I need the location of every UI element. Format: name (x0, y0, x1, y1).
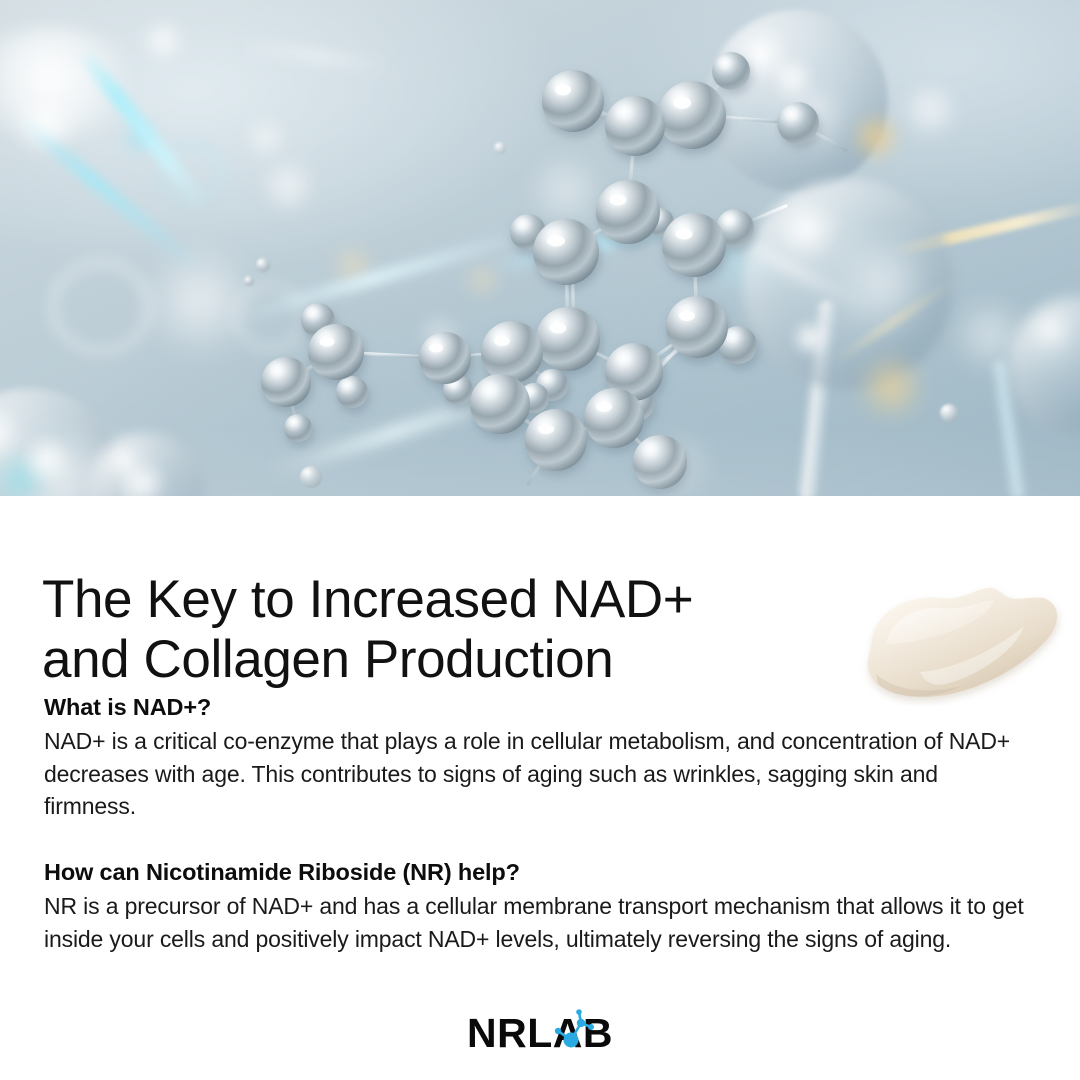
cream-swatch (812, 574, 1074, 706)
hero-image (0, 0, 1080, 496)
content-area: The Key to Increased NAD+ and Collagen P… (0, 496, 1080, 1080)
section-spacer (44, 823, 1026, 857)
logo-wordmark: NRLAB (467, 1010, 613, 1056)
section-body-nad: NAD+ is a critical co-enzyme that plays … (44, 725, 1026, 823)
hero-bottom-fade (0, 0, 1080, 496)
page-title: The Key to Increased NAD+ and Collagen P… (42, 570, 882, 691)
body-sections: What is NAD+? NAD+ is a critical co-enzy… (44, 692, 1026, 955)
section-title-nr: How can Nicotinamide Riboside (NR) help? (44, 857, 1026, 887)
section-title-nad: What is NAD+? (44, 692, 1026, 722)
brand-logo: NRLAB (0, 1005, 1080, 1061)
logo-inner: NRLAB (467, 1011, 613, 1055)
section-body-nr: NR is a precursor of NAD+ and has a cell… (44, 890, 1026, 955)
poster-root: The Key to Increased NAD+ and Collagen P… (0, 0, 1080, 1080)
